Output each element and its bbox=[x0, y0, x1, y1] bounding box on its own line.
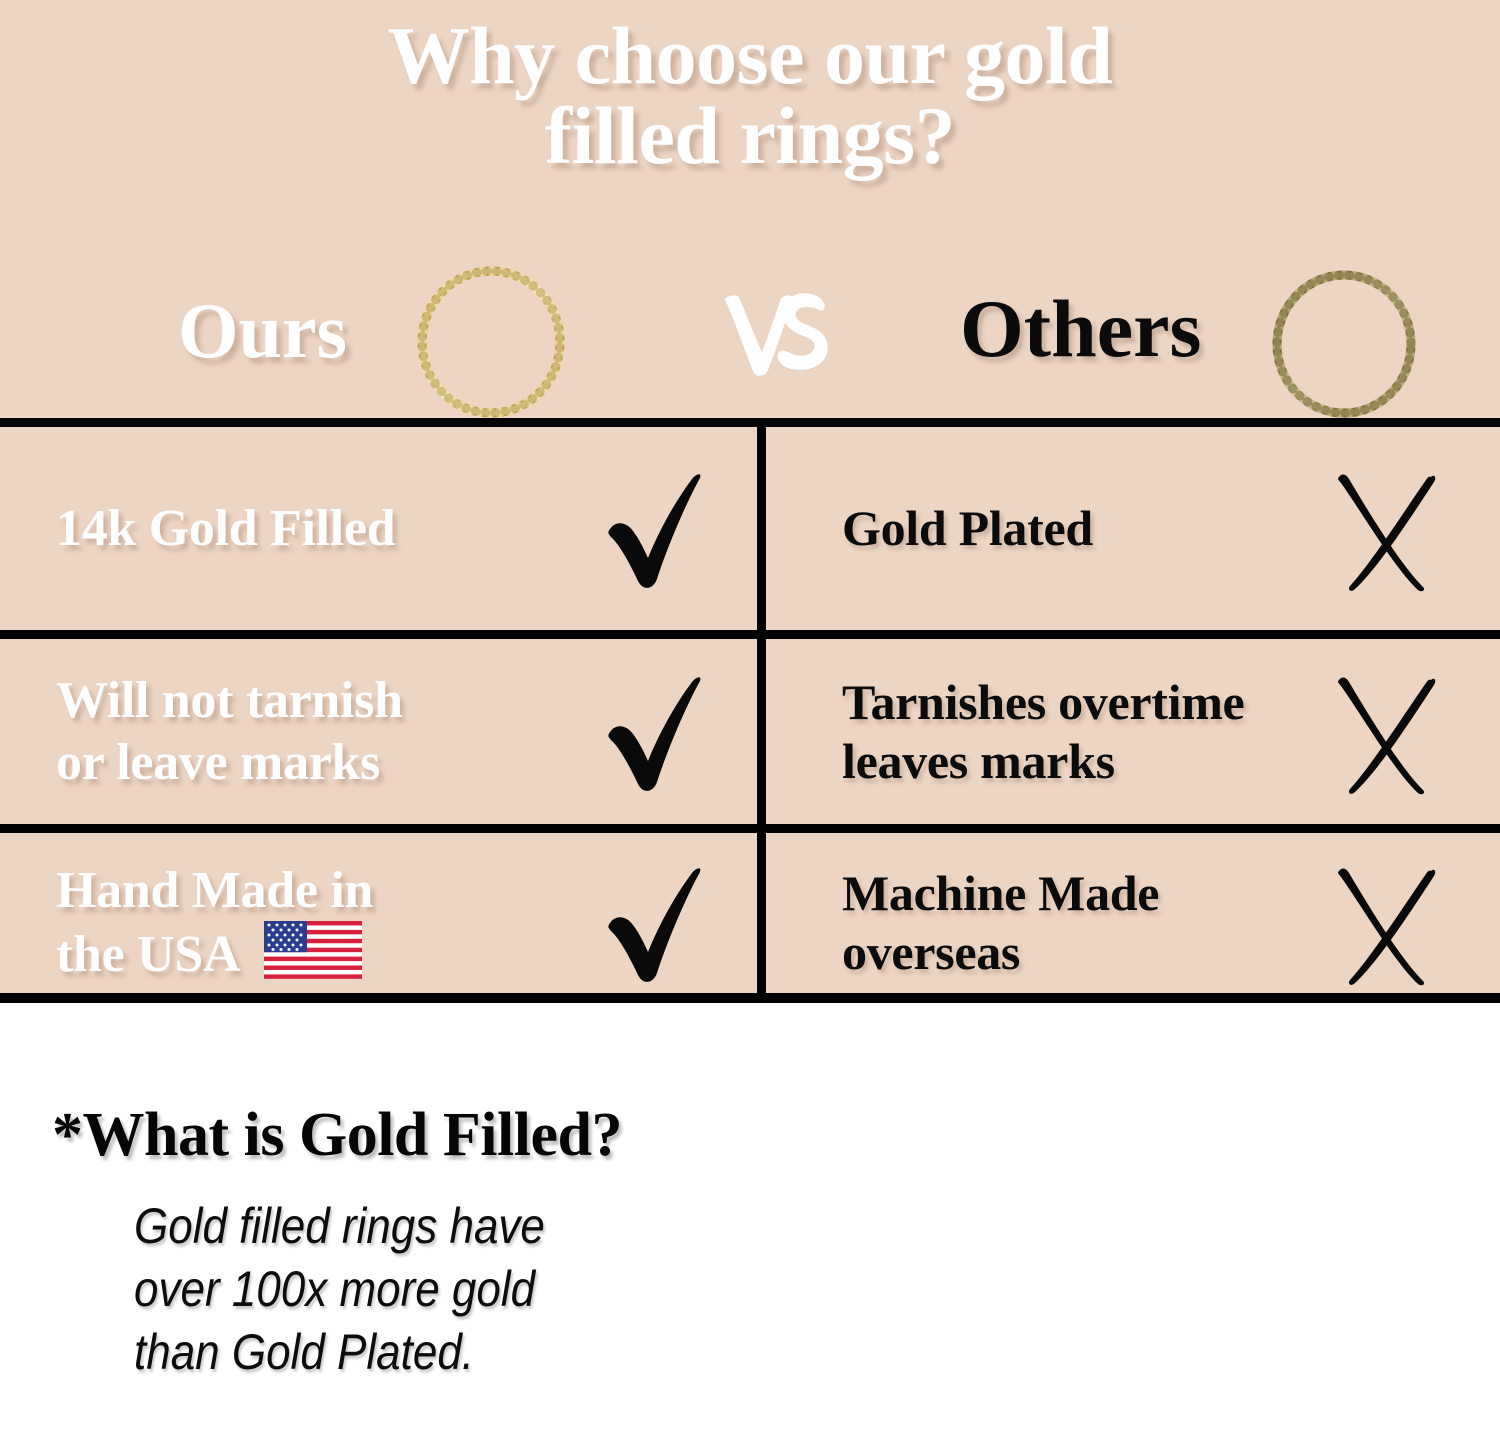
cross-icon bbox=[1327, 463, 1443, 595]
check-mark-slot bbox=[547, 465, 757, 593]
others-cell-line: Gold Plated bbox=[842, 499, 1270, 558]
others-cell: Machine Made overseas bbox=[766, 833, 1500, 1012]
explainer-body: Gold filled rings have over 100x more go… bbox=[134, 1195, 545, 1384]
x-mark-slot bbox=[1270, 857, 1500, 989]
ours-cell: 14k Gold Filled bbox=[0, 427, 766, 630]
check-icon bbox=[592, 668, 712, 796]
ours-cell-line: Hand Made in bbox=[56, 860, 547, 921]
others-cell: Gold Plated bbox=[766, 427, 1500, 630]
check-mark-slot bbox=[547, 859, 757, 987]
others-cell: Tarnishes overtime leaves marks bbox=[766, 639, 1500, 824]
ours-cell-text: Hand Made in the USA bbox=[0, 860, 547, 986]
explainer-heading: *What is Gold Filled? bbox=[52, 1100, 622, 1171]
ours-cell-line: the USA bbox=[56, 926, 237, 983]
ours-cell-line: Will not tarnish bbox=[56, 670, 547, 731]
cross-icon bbox=[1327, 666, 1443, 798]
table-row: Hand Made in the USA bbox=[0, 833, 1500, 1012]
others-cell-line: Machine Made bbox=[842, 864, 1270, 923]
vs-icon bbox=[718, 272, 838, 392]
usa-flag-icon bbox=[264, 921, 362, 979]
ours-cell: Hand Made in the USA bbox=[0, 833, 766, 1012]
check-icon bbox=[592, 859, 712, 987]
ours-column-label: Ours bbox=[178, 286, 347, 376]
ours-cell-line-with-flag: the USA bbox=[56, 921, 547, 985]
ours-cell-line: or leave marks bbox=[56, 732, 547, 793]
x-mark-slot bbox=[1270, 666, 1500, 798]
explainer-body-line: Gold filled rings have bbox=[134, 1195, 545, 1258]
comparison-table: 14k Gold Filled Gold Plated bbox=[0, 418, 1500, 1003]
ours-cell-line: 14k Gold Filled bbox=[56, 498, 547, 559]
check-mark-slot bbox=[547, 668, 757, 796]
others-cell-line: leaves marks bbox=[842, 732, 1270, 791]
others-cell-text: Gold Plated bbox=[766, 499, 1270, 558]
ours-cell: Will not tarnish or leave marks bbox=[0, 639, 766, 824]
page-title: Why choose our gold filled rings? bbox=[0, 16, 1500, 177]
tarnished-beaded-ring-icon bbox=[1268, 266, 1420, 422]
explainer-body-line: over 100x more gold bbox=[134, 1258, 545, 1321]
page-title-line-2: filled rings? bbox=[0, 96, 1500, 176]
infographic-page: Why choose our gold filled rings? Ours O… bbox=[0, 0, 1500, 1437]
explainer-section: *What is Gold Filled? Gold filled rings … bbox=[0, 1003, 1500, 1437]
table-row: 14k Gold Filled Gold Plated bbox=[0, 427, 1500, 639]
others-column-label: Others bbox=[960, 282, 1201, 376]
ours-cell-text: Will not tarnish or leave marks bbox=[0, 670, 547, 793]
others-cell-text: Tarnishes overtime leaves marks bbox=[766, 673, 1270, 791]
check-icon bbox=[592, 465, 712, 593]
page-title-line-1: Why choose our gold bbox=[388, 10, 1113, 101]
gold-beaded-ring-icon bbox=[412, 262, 570, 422]
table-row: Will not tarnish or leave marks Tarnishe… bbox=[0, 639, 1500, 833]
others-cell-text: Machine Made overseas bbox=[766, 864, 1270, 982]
ours-cell-text: 14k Gold Filled bbox=[0, 498, 547, 559]
explainer-body-line: than Gold Plated. bbox=[134, 1321, 545, 1384]
others-cell-line: overseas bbox=[842, 923, 1270, 982]
cross-icon bbox=[1327, 857, 1443, 989]
others-cell-line: Tarnishes overtime bbox=[842, 673, 1270, 732]
x-mark-slot bbox=[1270, 463, 1500, 595]
